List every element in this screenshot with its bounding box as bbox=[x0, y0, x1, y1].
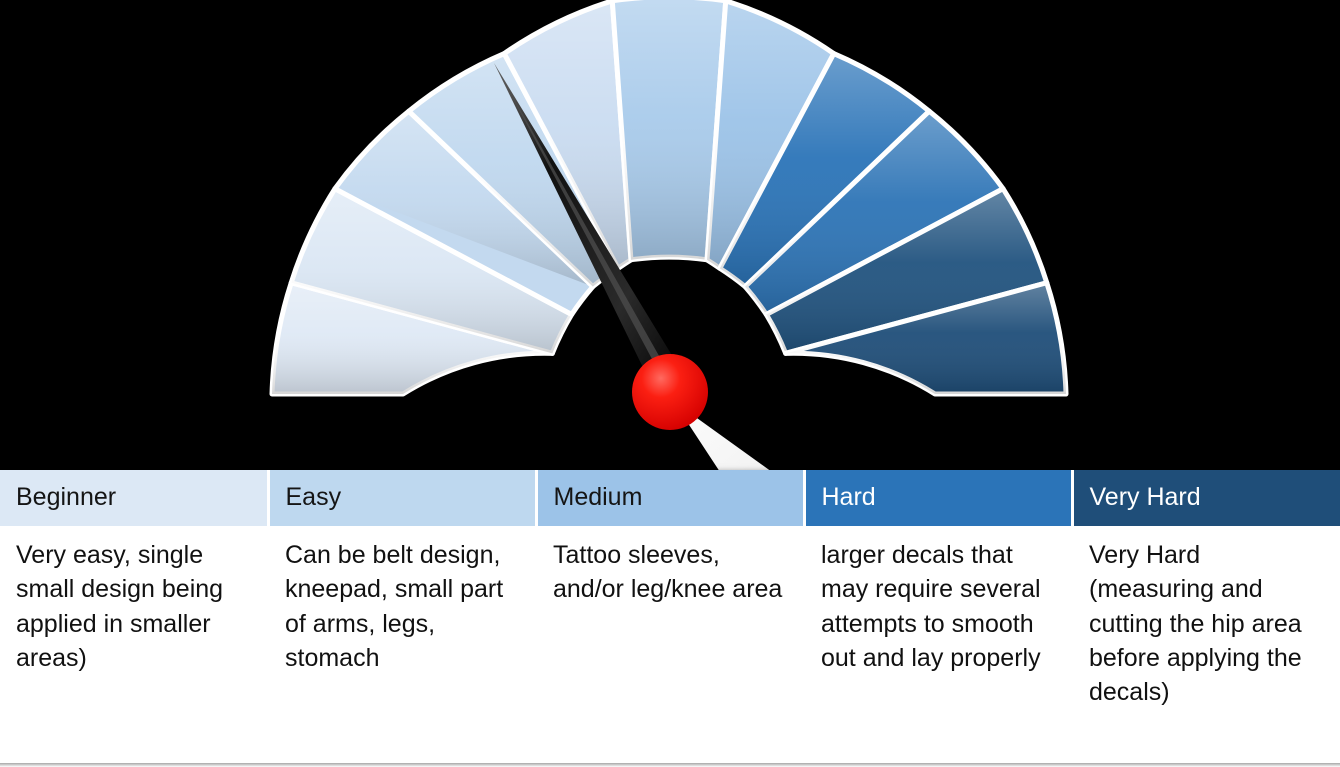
cell-beginner: Very easy, single small design being app… bbox=[0, 526, 268, 767]
gauge-ring bbox=[272, 0, 1066, 394]
difficulty-gauge bbox=[0, 0, 1340, 472]
header-hard[interactable]: Hard bbox=[804, 470, 1072, 526]
header-very-hard[interactable]: Very Hard bbox=[1072, 470, 1340, 526]
gauge-svg bbox=[0, 0, 1340, 472]
difficulty-matrix: Beginner Easy Medium Hard Very Hard Very… bbox=[0, 470, 1340, 767]
table-body-row: Very easy, single small design being app… bbox=[0, 526, 1340, 767]
slide-canvas: Beginner Easy Medium Hard Very Hard Very… bbox=[0, 0, 1340, 767]
cell-hard: larger decals that may require several a… bbox=[804, 526, 1072, 767]
difficulty-table: Beginner Easy Medium Hard Very Hard Very… bbox=[0, 470, 1340, 767]
gauge-pivot-hub bbox=[632, 354, 708, 430]
cell-very-hard: Very Hard (measuring and cutting the hip… bbox=[1072, 526, 1340, 767]
header-beginner[interactable]: Beginner bbox=[0, 470, 268, 526]
table-header-row: Beginner Easy Medium Hard Very Hard bbox=[0, 470, 1340, 526]
header-medium[interactable]: Medium bbox=[536, 470, 804, 526]
cell-easy: Can be belt design, kneepad, small part … bbox=[268, 526, 536, 767]
header-easy[interactable]: Easy bbox=[268, 470, 536, 526]
cell-medium: Tattoo sleeves, and/or leg/knee area bbox=[536, 526, 804, 767]
